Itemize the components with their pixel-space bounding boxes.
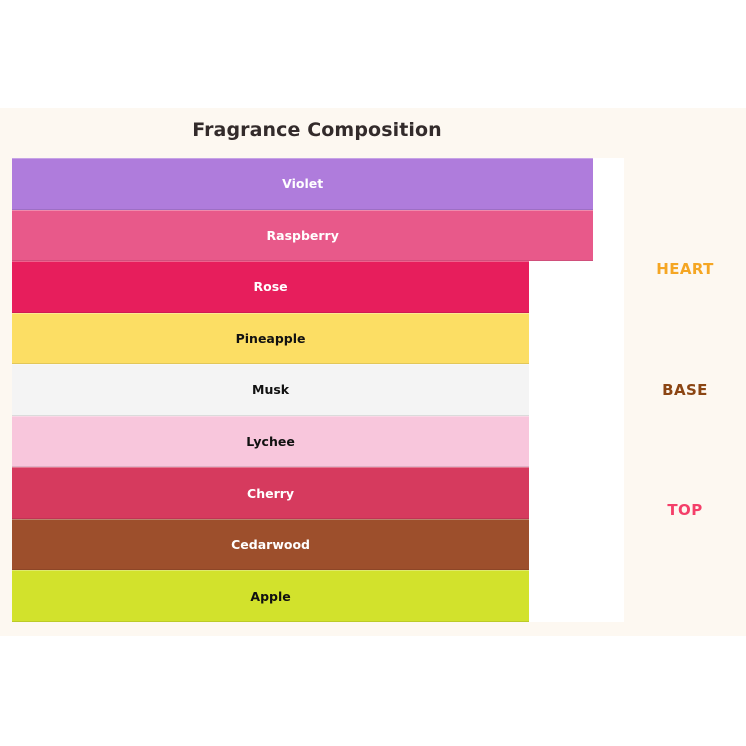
group-label-base: BASE <box>624 381 746 399</box>
bar-row: Apple <box>12 570 624 622</box>
group-label-top: TOP <box>624 501 746 519</box>
bar-row: Pineapple <box>12 313 624 365</box>
bar-row: Cedarwood <box>12 519 624 571</box>
chart-figure: Fragrance Composition VioletRaspberryRos… <box>0 108 746 636</box>
page-title: Fragrance Composition <box>0 119 634 141</box>
bar-cherry[interactable] <box>12 467 529 519</box>
bar-row: Lychee <box>12 416 624 468</box>
bar-musk[interactable] <box>12 364 529 416</box>
bar-violet[interactable] <box>12 158 593 210</box>
bar-row: Violet <box>12 158 624 210</box>
plot-area: VioletRaspberryRosePineappleMuskLycheeCh… <box>12 158 624 622</box>
bar-row: Musk <box>12 364 624 416</box>
bar-apple[interactable] <box>12 570 529 622</box>
bar-lychee[interactable] <box>12 416 529 468</box>
bar-raspberry[interactable] <box>12 210 593 262</box>
group-label-heart: HEART <box>624 260 746 278</box>
bar-row: Rose <box>12 261 624 313</box>
bar-row: Cherry <box>12 467 624 519</box>
bar-pineapple[interactable] <box>12 313 529 365</box>
bar-rose[interactable] <box>12 261 529 313</box>
bar-row: Raspberry <box>12 210 624 262</box>
bar-cedarwood[interactable] <box>12 519 529 571</box>
